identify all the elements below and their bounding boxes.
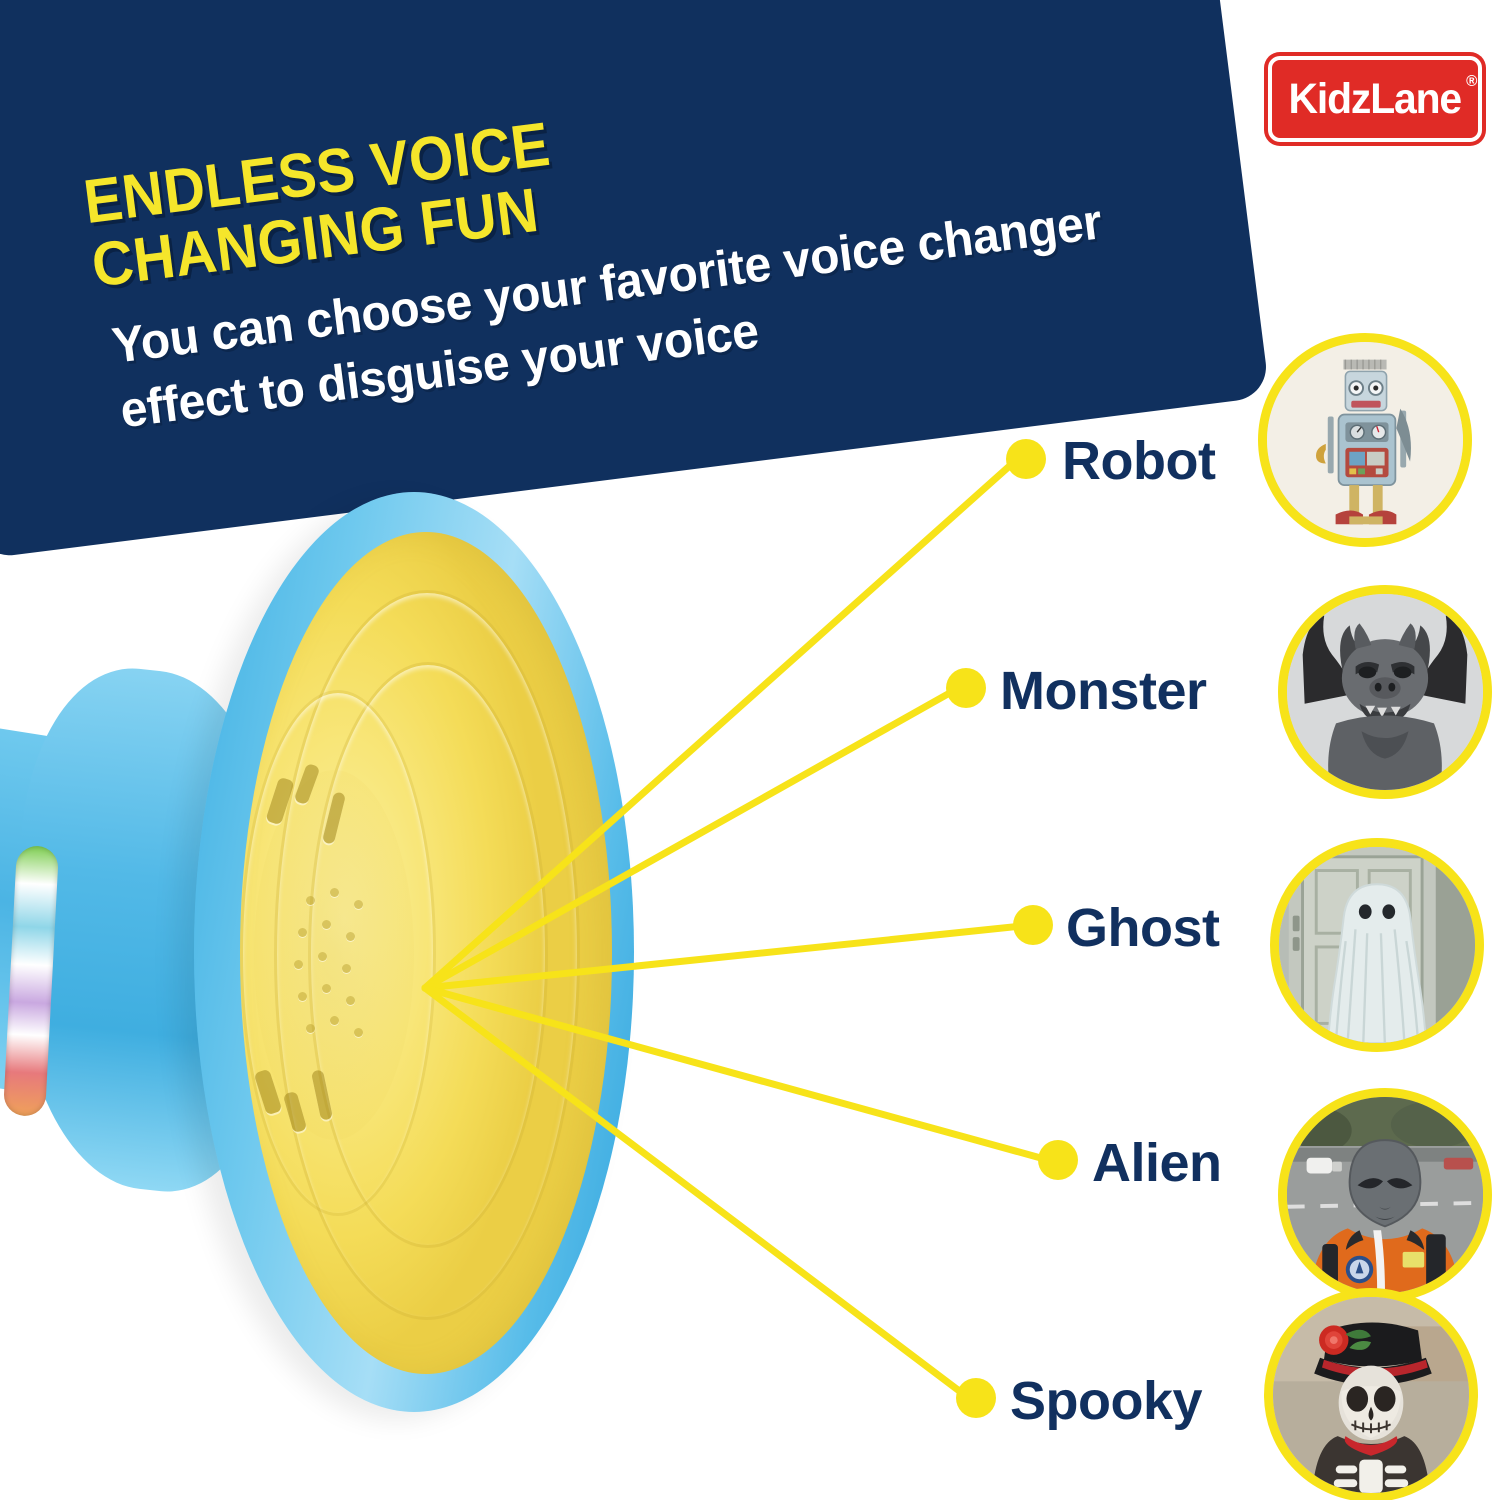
monster-photo-icon	[1278, 585, 1492, 799]
product-infographic: ENDLESS VOICE CHANGING FUN You can choos…	[0, 0, 1500, 1500]
callout-label-spooky: Spooky	[1010, 1370, 1202, 1432]
connector-line-robot	[425, 462, 1014, 988]
robot-photo-icon	[1258, 333, 1472, 547]
alien-photo-icon	[1278, 1088, 1492, 1302]
callout-dot-monster	[946, 668, 986, 708]
callout-connector-lines	[0, 0, 1500, 1500]
callout-label-robot: Robot	[1062, 430, 1215, 492]
callout-dot-robot	[1006, 439, 1046, 479]
callout-label-monster: Monster	[1000, 660, 1207, 722]
spooky-photo-icon	[1264, 1288, 1478, 1500]
callout-dot-ghost	[1013, 905, 1053, 945]
callout-dot-alien	[1038, 1140, 1078, 1180]
connector-line-spooky	[425, 988, 966, 1396]
ghost-photo-icon	[1270, 838, 1484, 1052]
callout-dot-spooky	[956, 1378, 996, 1418]
connector-line-alien	[425, 988, 1048, 1160]
callout-label-ghost: Ghost	[1066, 897, 1220, 959]
callout-label-alien: Alien	[1092, 1132, 1222, 1194]
